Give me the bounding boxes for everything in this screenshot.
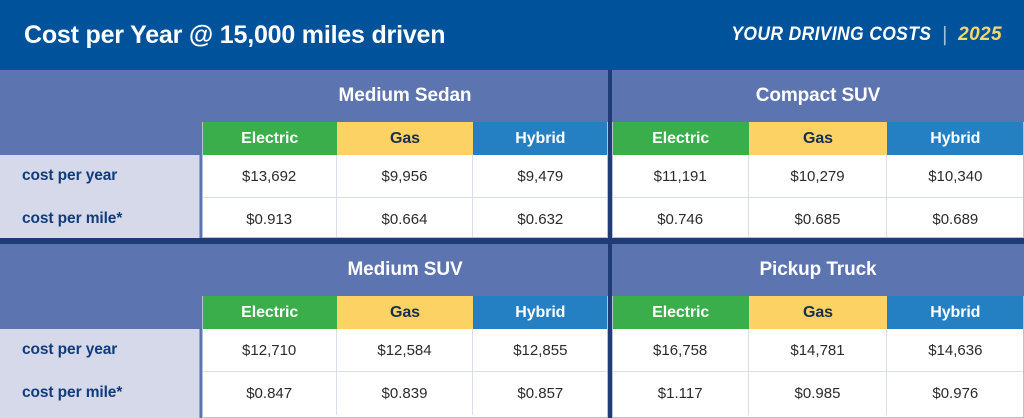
group-title-medium-sedan: Medium Sedan bbox=[0, 70, 608, 122]
vehicle-group-medium-sedan: Medium Sedan cost per year cost per mile… bbox=[0, 70, 608, 238]
table-block-bottom: Medium SUV cost per year cost per mile* … bbox=[0, 244, 1024, 418]
column-header-hybrid: Hybrid bbox=[473, 296, 608, 329]
column-header-gas: Gas bbox=[337, 122, 472, 155]
data-grid-compact-suv: Electric Gas Hybrid $11,191 $10,279 $10,… bbox=[612, 122, 1024, 238]
table-cell: $12,584 bbox=[337, 329, 472, 372]
brand-lockup: YOUR DRIVING COSTS | 2025 bbox=[714, 24, 1002, 47]
table-block-top: Medium Sedan cost per year cost per mile… bbox=[0, 70, 1024, 238]
table-cell: $9,479 bbox=[473, 155, 608, 198]
vehicle-group-compact-suv: Compact SUV Electric Gas Hybrid $11,191 … bbox=[612, 70, 1024, 238]
column-header-electric: Electric bbox=[612, 122, 749, 155]
table-cell: $12,855 bbox=[473, 329, 608, 372]
data-grid-medium-suv: Electric Gas Hybrid $12,710 $12,584 $12,… bbox=[202, 296, 608, 418]
vertical-divider bbox=[608, 70, 612, 238]
vertical-divider bbox=[608, 244, 612, 418]
header-bar: Cost per Year @ 15,000 miles driven YOUR… bbox=[0, 0, 1024, 70]
row-label-cost-per-year: cost per year bbox=[0, 329, 200, 371]
row-label-cost-per-mile: cost per mile* bbox=[0, 198, 200, 240]
table-cell: $0.976 bbox=[887, 372, 1024, 415]
table-cell: $10,340 bbox=[887, 155, 1024, 198]
column-header-gas: Gas bbox=[749, 296, 886, 329]
column-header-hybrid: Hybrid bbox=[473, 122, 608, 155]
table-cell: $0.685 bbox=[749, 198, 886, 241]
group-title-compact-suv: Compact SUV bbox=[612, 70, 1024, 122]
table-cell: $12,710 bbox=[202, 329, 337, 372]
table-cell: $1.117 bbox=[612, 372, 749, 415]
column-header-hybrid: Hybrid bbox=[887, 296, 1024, 329]
table-cell: $0.689 bbox=[887, 198, 1024, 241]
column-header-hybrid: Hybrid bbox=[887, 122, 1024, 155]
table-cell: $14,636 bbox=[887, 329, 1024, 372]
table-cell: $0.839 bbox=[337, 372, 472, 415]
table-cell: $13,692 bbox=[202, 155, 337, 198]
row-label-cost-per-year: cost per year bbox=[0, 155, 200, 197]
table-cell: $0.913 bbox=[202, 198, 337, 241]
table-cell: $0.985 bbox=[749, 372, 886, 415]
row-label-cost-per-mile: cost per mile* bbox=[0, 372, 200, 414]
table-cell: $9,956 bbox=[337, 155, 472, 198]
vehicle-group-medium-suv: Medium SUV cost per year cost per mile* … bbox=[0, 244, 608, 418]
table-cell: $11,191 bbox=[612, 155, 749, 198]
column-header-electric: Electric bbox=[202, 296, 337, 329]
column-header-electric: Electric bbox=[202, 122, 337, 155]
table-cell: $0.746 bbox=[612, 198, 749, 241]
table-cell: $0.632 bbox=[473, 198, 608, 241]
table-cell: $10,279 bbox=[749, 155, 886, 198]
table-cell: $16,758 bbox=[612, 329, 749, 372]
group-title-pickup-truck: Pickup Truck bbox=[612, 244, 1024, 296]
column-header-gas: Gas bbox=[749, 122, 886, 155]
page-title: Cost per Year @ 15,000 miles driven bbox=[24, 23, 445, 48]
column-header-gas: Gas bbox=[337, 296, 472, 329]
table-cell: $14,781 bbox=[749, 329, 886, 372]
vehicle-group-pickup-truck: Pickup Truck Electric Gas Hybrid $16,758… bbox=[612, 244, 1024, 418]
table-cell: $0.664 bbox=[337, 198, 472, 241]
column-header-electric: Electric bbox=[612, 296, 749, 329]
data-grid-medium-sedan: Electric Gas Hybrid $13,692 $9,956 $9,47… bbox=[202, 122, 608, 238]
brand-name: YOUR DRIVING COSTS bbox=[731, 24, 931, 46]
table-cell: $0.847 bbox=[202, 372, 337, 415]
brand-divider: | bbox=[941, 24, 948, 47]
data-grid-pickup-truck: Electric Gas Hybrid $16,758 $14,781 $14,… bbox=[612, 296, 1024, 418]
driving-costs-infographic: Cost per Year @ 15,000 miles driven YOUR… bbox=[0, 0, 1024, 418]
group-title-medium-suv: Medium SUV bbox=[0, 244, 608, 296]
brand-year: 2025 bbox=[958, 24, 1002, 46]
table-cell: $0.857 bbox=[473, 372, 608, 415]
